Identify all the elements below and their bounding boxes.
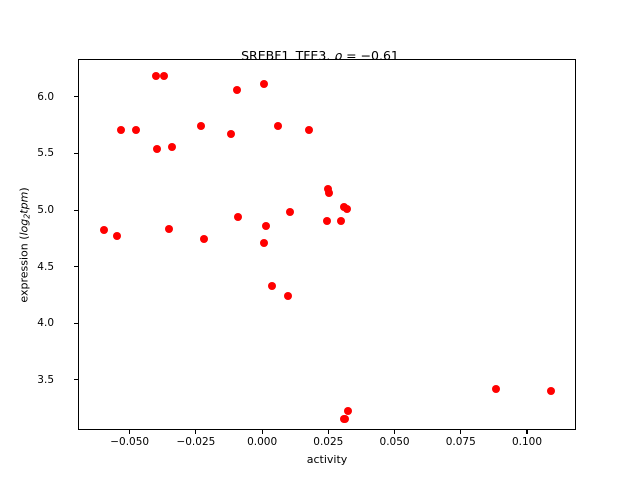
plot-data-area	[79, 60, 575, 429]
data-point	[492, 385, 500, 393]
data-point	[323, 217, 331, 225]
y-tick-label: 5.0	[37, 204, 54, 216]
x-tick-label: 0.000	[247, 436, 277, 448]
y-tick-label: 3.5	[37, 374, 54, 386]
data-point	[274, 122, 282, 130]
y-tick-label: 4.0	[37, 317, 54, 329]
data-point	[260, 80, 268, 88]
data-point	[168, 143, 176, 151]
x-tick-mark	[526, 430, 527, 434]
y-axis-label-subscript: 2	[23, 214, 32, 219]
y-tick-mark	[74, 379, 78, 380]
data-point	[152, 72, 160, 80]
plot-axes-frame	[78, 59, 576, 430]
y-tick-label: 6.0	[37, 91, 54, 103]
y-tick-label: 4.5	[37, 261, 54, 273]
data-point	[200, 235, 208, 243]
x-tick-label: −0.025	[176, 436, 215, 448]
y-axis-label: expression (log2tpm)	[18, 60, 36, 431]
x-axis-label: activity	[78, 453, 576, 466]
data-point	[343, 205, 351, 213]
x-tick-label: −0.050	[110, 436, 149, 448]
data-point	[233, 86, 241, 94]
x-tick-mark	[129, 430, 130, 434]
y-tick-label: 5.5	[37, 147, 54, 159]
y-axis-label-tpm: tpm	[18, 192, 31, 214]
y-tick-mark	[74, 210, 78, 211]
data-point	[132, 126, 140, 134]
data-point	[340, 415, 348, 423]
data-point	[262, 222, 270, 230]
data-point	[227, 130, 235, 138]
data-point	[337, 217, 345, 225]
data-point	[160, 72, 168, 80]
x-tick-mark	[394, 430, 395, 434]
y-axis-label-log: log	[18, 219, 31, 236]
data-point	[344, 407, 352, 415]
x-tick-mark	[262, 430, 263, 434]
data-point	[117, 126, 125, 134]
data-point	[165, 225, 173, 233]
x-tick-label: 0.050	[380, 436, 410, 448]
data-point	[197, 122, 205, 130]
data-point	[153, 145, 161, 153]
x-tick-mark	[460, 430, 461, 434]
data-point	[305, 126, 313, 134]
x-tick-label: 0.100	[512, 436, 542, 448]
data-point	[286, 208, 294, 216]
data-point	[113, 232, 121, 240]
data-point	[268, 282, 276, 290]
data-point	[547, 387, 555, 395]
y-tick-mark	[74, 323, 78, 324]
data-point	[260, 239, 268, 247]
data-point	[234, 213, 242, 221]
scatter-plot-figure: SREBF1_TFE3, ρ = −0.61 hg19_v2_chrX_-_48…	[0, 0, 640, 480]
y-tick-mark	[74, 266, 78, 267]
y-axis-label-suffix: )	[18, 187, 31, 191]
data-point	[100, 226, 108, 234]
data-point	[325, 189, 333, 197]
y-tick-mark	[74, 153, 78, 154]
x-tick-label: 0.075	[446, 436, 476, 448]
x-tick-mark	[195, 430, 196, 434]
y-axis-label-prefix: expression (	[18, 236, 31, 303]
y-tick-mark	[74, 96, 78, 97]
x-tick-label: 0.025	[313, 436, 343, 448]
data-point	[284, 292, 292, 300]
x-tick-mark	[328, 430, 329, 434]
